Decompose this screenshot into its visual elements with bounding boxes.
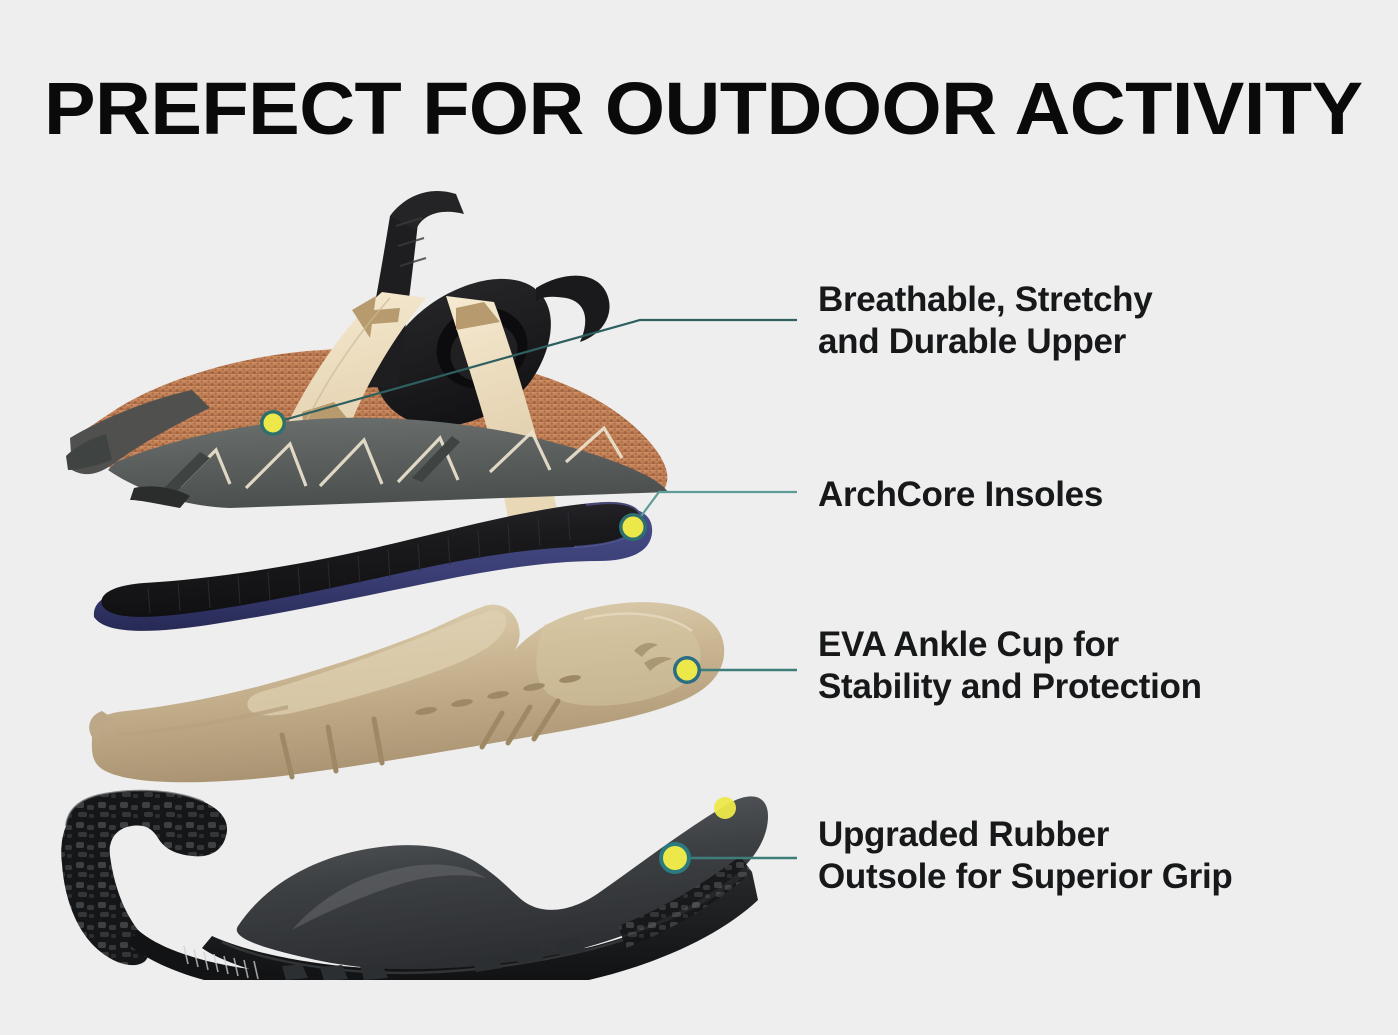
page-title: PREFECT FOR OUTDOOR ACTIVITY — [44, 72, 1398, 146]
outsole-svg — [52, 760, 772, 980]
outsole-top-platform — [237, 796, 768, 970]
insole-heel-rim — [574, 503, 641, 547]
insole-svg — [88, 495, 688, 640]
marker-dot-insole — [623, 517, 644, 538]
outsole-lug-blocks — [282, 937, 586, 980]
eva-midsole-illustration — [78, 595, 738, 795]
callout-label-outsole: Upgraded Rubber Outsole for Superior Gri… — [818, 814, 1232, 898]
callout-label-eva: EVA Ankle Cup for Stability and Protecti… — [818, 624, 1202, 708]
shoe-upper-illustration — [60, 170, 780, 520]
callout-label-insole: ArchCore Insoles — [818, 474, 1103, 516]
leader-eva — [673, 656, 797, 684]
marker-dot-upper — [264, 414, 283, 433]
eva-drainage-holes — [415, 674, 582, 717]
outsole-tread-band — [202, 872, 758, 980]
insole-rib-texture — [148, 512, 570, 613]
outsole-siping — [184, 946, 258, 979]
outsole-forefoot-tread — [128, 930, 586, 980]
archcore-insole-illustration — [88, 495, 688, 640]
callout-label-upper: Breathable, Stretchy and Durable Upper — [818, 279, 1152, 363]
eva-forefoot-groove — [118, 707, 288, 735]
marker-dot-outsole-secondary — [714, 797, 736, 819]
upper-overlay-shadows — [160, 436, 460, 496]
upper-chevron-details — [180, 428, 622, 488]
outsole-toe-lugs — [61, 791, 227, 965]
eva-body — [89, 602, 724, 782]
marker-dot-outsole — [663, 846, 687, 870]
marker-ring-insole — [619, 513, 647, 541]
infographic-canvas: PREFECT FOR OUTDOOR ACTIVITY — [0, 0, 1398, 1035]
leader-outsole — [659, 797, 797, 874]
leader-insole — [619, 492, 797, 541]
marker-ring-outsole — [659, 842, 691, 874]
eva-svg — [78, 595, 738, 795]
upper-outsole-overlay — [66, 390, 668, 508]
upper-strap — [274, 292, 560, 520]
marker-ring-eva — [673, 656, 701, 684]
insole-foam-base — [94, 506, 652, 631]
rubber-outsole-illustration — [52, 760, 772, 980]
eva-side-grooves — [282, 701, 558, 777]
shoe-upper-svg — [60, 170, 780, 520]
marker-dot-eva — [677, 660, 698, 681]
outsole-heel-lugs — [618, 856, 752, 948]
eva-logo-mark — [634, 643, 672, 671]
leader-upper — [260, 320, 797, 436]
upper-knit-body — [82, 349, 667, 500]
upper-collar — [360, 191, 610, 427]
marker-ring-upper — [260, 410, 286, 436]
insole-top-surface — [101, 502, 640, 617]
